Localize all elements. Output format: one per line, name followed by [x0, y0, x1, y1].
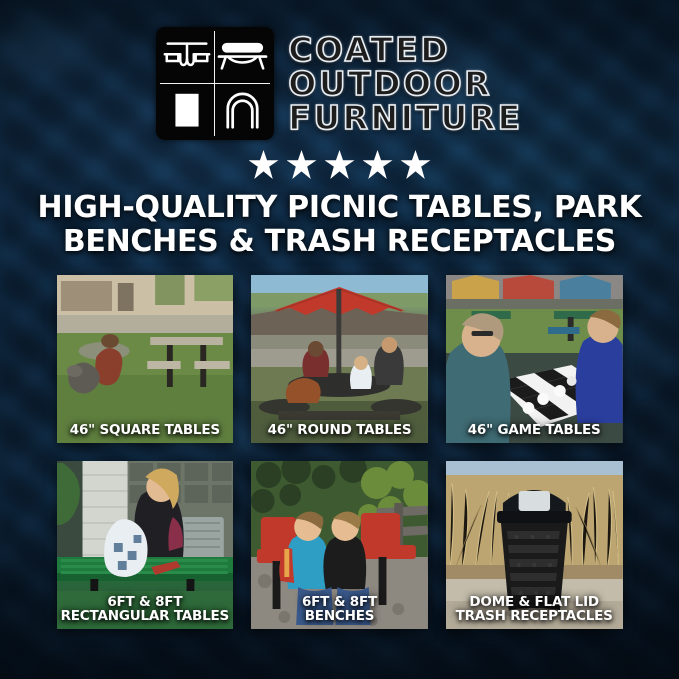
star-rating: [0, 150, 679, 179]
brand-wordmark: COATED OUTDOOR FURNITURE: [288, 33, 522, 134]
promotional-banner: COATED OUTDOOR FURNITURE HIGH-QUALITY PI…: [0, 0, 679, 679]
product-caption-line-1: DOME & FLAT LID: [450, 595, 619, 609]
park-bench-icon: [215, 31, 270, 84]
product-caption: 46" SQUARE TABLES: [57, 423, 234, 437]
headline-line-1: HIGH-QUALITY PICNIC TABLES, PARK: [22, 191, 657, 225]
product-caption: 46" GAME TABLES: [446, 423, 623, 437]
product-card-round-tables[interactable]: 46" ROUND TABLES: [251, 275, 428, 443]
trash-receptacle-icon: [160, 84, 215, 137]
product-card-benches[interactable]: 6FT & 8FT BENCHES: [251, 461, 428, 629]
star-icon: [249, 150, 279, 179]
46-inch-game-table-photo: [446, 275, 623, 443]
headline: HIGH-QUALITY PICNIC TABLES, PARK BENCHES…: [0, 191, 679, 258]
product-caption: 46" ROUND TABLES: [251, 423, 428, 437]
46-inch-round-table-photo: [251, 275, 428, 443]
product-caption: 6FT & 8FT RECTANGULAR TABLES: [57, 595, 234, 623]
star-icon: [287, 150, 317, 179]
product-caption: 6FT & 8FT BENCHES: [251, 595, 428, 623]
product-caption-line-1: 46" GAME TABLES: [450, 423, 619, 437]
star-icon: [401, 150, 431, 179]
wordmark-line-coated: COATED: [288, 33, 450, 66]
product-card-trash-receptacles[interactable]: DOME & FLAT LID TRASH RECEPTACLES: [446, 461, 623, 629]
product-caption-line-2: TRASH RECEPTACLES: [450, 609, 619, 623]
star-icon: [363, 150, 393, 179]
star-icon: [325, 150, 355, 179]
brand-logo: COATED OUTDOOR FURNITURE: [0, 0, 679, 140]
product-grid: 46" SQUARE TABLES: [57, 275, 623, 629]
product-card-game-tables[interactable]: 46" GAME TABLES: [446, 275, 623, 443]
product-card-rectangular-tables[interactable]: 6FT & 8FT RECTANGULAR TABLES: [57, 461, 234, 629]
wordmark-line-furniture: FURNITURE: [288, 101, 522, 134]
banner-content: COATED OUTDOOR FURNITURE HIGH-QUALITY PI…: [0, 0, 679, 679]
product-caption-line-1: 46" ROUND TABLES: [255, 423, 424, 437]
coated-outdoor-furniture-logo-icon: [156, 27, 274, 140]
wordmark-line-outdoor: OUTDOOR: [288, 67, 492, 100]
product-caption-line-2: BENCHES: [255, 609, 424, 623]
46-inch-square-table-photo: [57, 275, 234, 443]
product-caption-line-1: 6FT & 8FT: [255, 595, 424, 609]
product-caption-line-2: RECTANGULAR TABLES: [61, 609, 230, 623]
product-caption-line-1: 6FT & 8FT: [61, 595, 230, 609]
headline-line-2: BENCHES & TRASH RECEPTACLES: [22, 225, 657, 259]
product-caption-line-1: 46" SQUARE TABLES: [61, 423, 230, 437]
picnic-table-icon: [160, 31, 215, 84]
product-card-square-tables[interactable]: 46" SQUARE TABLES: [57, 275, 234, 443]
product-caption: DOME & FLAT LID TRASH RECEPTACLES: [446, 595, 623, 623]
bike-rack-arch-icon: [215, 84, 270, 137]
